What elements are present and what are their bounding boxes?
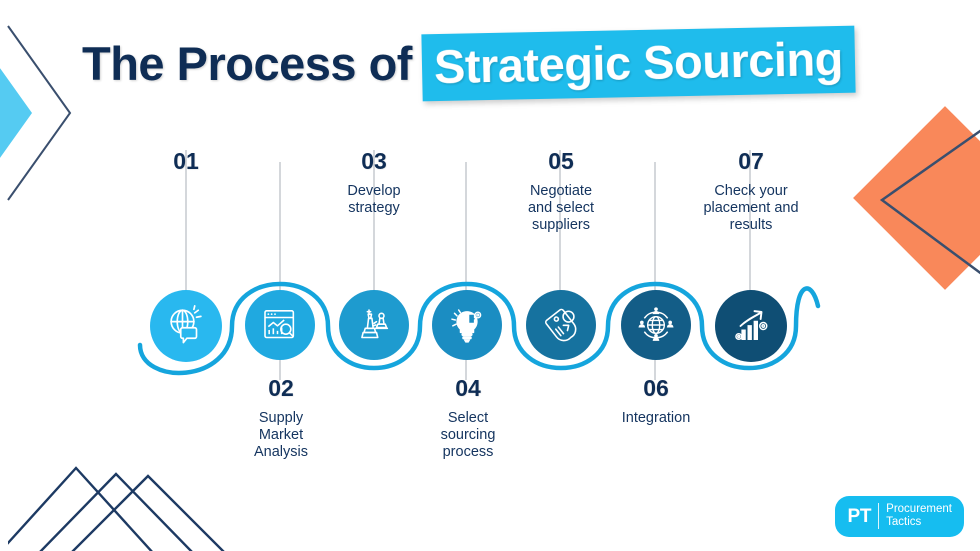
- step-number-04: 04: [410, 375, 526, 402]
- step-caption-03: 03 Develop strategy: [314, 148, 434, 217]
- step-number-01: 01: [126, 148, 246, 175]
- step-label-03-line2: strategy: [314, 200, 434, 217]
- title-plain-text: The Process of: [82, 40, 422, 87]
- globe-puzzle-speech-icon: [165, 305, 207, 347]
- step-caption-07: 07 Check your placement and results: [686, 148, 816, 234]
- price-tag-handshake-icon: [541, 305, 581, 345]
- step-number-06: 06: [596, 375, 716, 402]
- step-circle-01[interactable]: [150, 290, 222, 362]
- step-label-02-line2: Market: [222, 427, 340, 444]
- step-label-04-line1: Select: [410, 410, 526, 427]
- process-chain: 01: [0, 130, 980, 390]
- title-highlight-wrapper: Strategic Sourcing: [421, 26, 855, 102]
- logo-mark: PT: [847, 507, 871, 526]
- step-circle-06[interactable]: [621, 290, 691, 360]
- step-caption-06: 06 Integration: [596, 375, 716, 427]
- logo-line-1: Procurement: [886, 503, 952, 516]
- step-circle-03[interactable]: [339, 290, 409, 360]
- step-label-04-line3: process: [410, 444, 526, 461]
- step-circle-07[interactable]: [715, 290, 787, 362]
- step-label-04-line2: sourcing: [410, 427, 526, 444]
- browser-chart-magnifier-icon: [260, 305, 300, 345]
- step-label-07-line3: results: [686, 217, 816, 234]
- infographic-canvas: The Process of Strategic Sourcing: [0, 0, 980, 551]
- step-caption-05: 05 Negotiate and select suppliers: [500, 148, 622, 234]
- globe-network-users-icon: [636, 305, 676, 345]
- step-number-05: 05: [500, 148, 622, 175]
- chess-pieces-icon: [354, 305, 394, 345]
- step-caption-01: 01: [126, 148, 246, 183]
- step-number-03: 03: [314, 148, 434, 175]
- step-circle-05[interactable]: [526, 290, 596, 360]
- step-caption-02: 02 Supply Market Analysis: [222, 375, 340, 461]
- step-number-07: 07: [686, 148, 816, 175]
- step-circle-02[interactable]: [245, 290, 315, 360]
- step-label-07-line2: placement and: [686, 200, 816, 217]
- step-label-05-line2: and select: [500, 200, 622, 217]
- step-caption-04: 04 Select sourcing process: [410, 375, 526, 461]
- title-highlight-text: Strategic Sourcing: [434, 35, 844, 90]
- step-label-07-line1: Check your: [686, 183, 816, 200]
- step-label-05-line1: Negotiate: [500, 183, 622, 200]
- page-title: The Process of Strategic Sourcing: [82, 30, 855, 97]
- growth-bar-chart-gears-icon: [730, 305, 772, 347]
- step-circle-04[interactable]: [432, 290, 502, 360]
- brand-logo[interactable]: PT Procurement Tactics: [835, 496, 964, 537]
- logo-divider: [878, 503, 879, 529]
- logo-line-2: Tactics: [886, 516, 952, 529]
- step-label-02-line1: Supply: [222, 410, 340, 427]
- step-label-02-line3: Analysis: [222, 444, 340, 461]
- title-highlight-box: Strategic Sourcing: [421, 26, 855, 102]
- step-label-05-line3: suppliers: [500, 217, 622, 234]
- step-number-02: 02: [222, 375, 340, 402]
- step-label-06: Integration: [596, 410, 716, 427]
- step-label-03-line1: Develop: [314, 183, 434, 200]
- lightbulb-gear-puzzle-icon: [447, 305, 487, 345]
- logo-wordmark: Procurement Tactics: [886, 503, 952, 529]
